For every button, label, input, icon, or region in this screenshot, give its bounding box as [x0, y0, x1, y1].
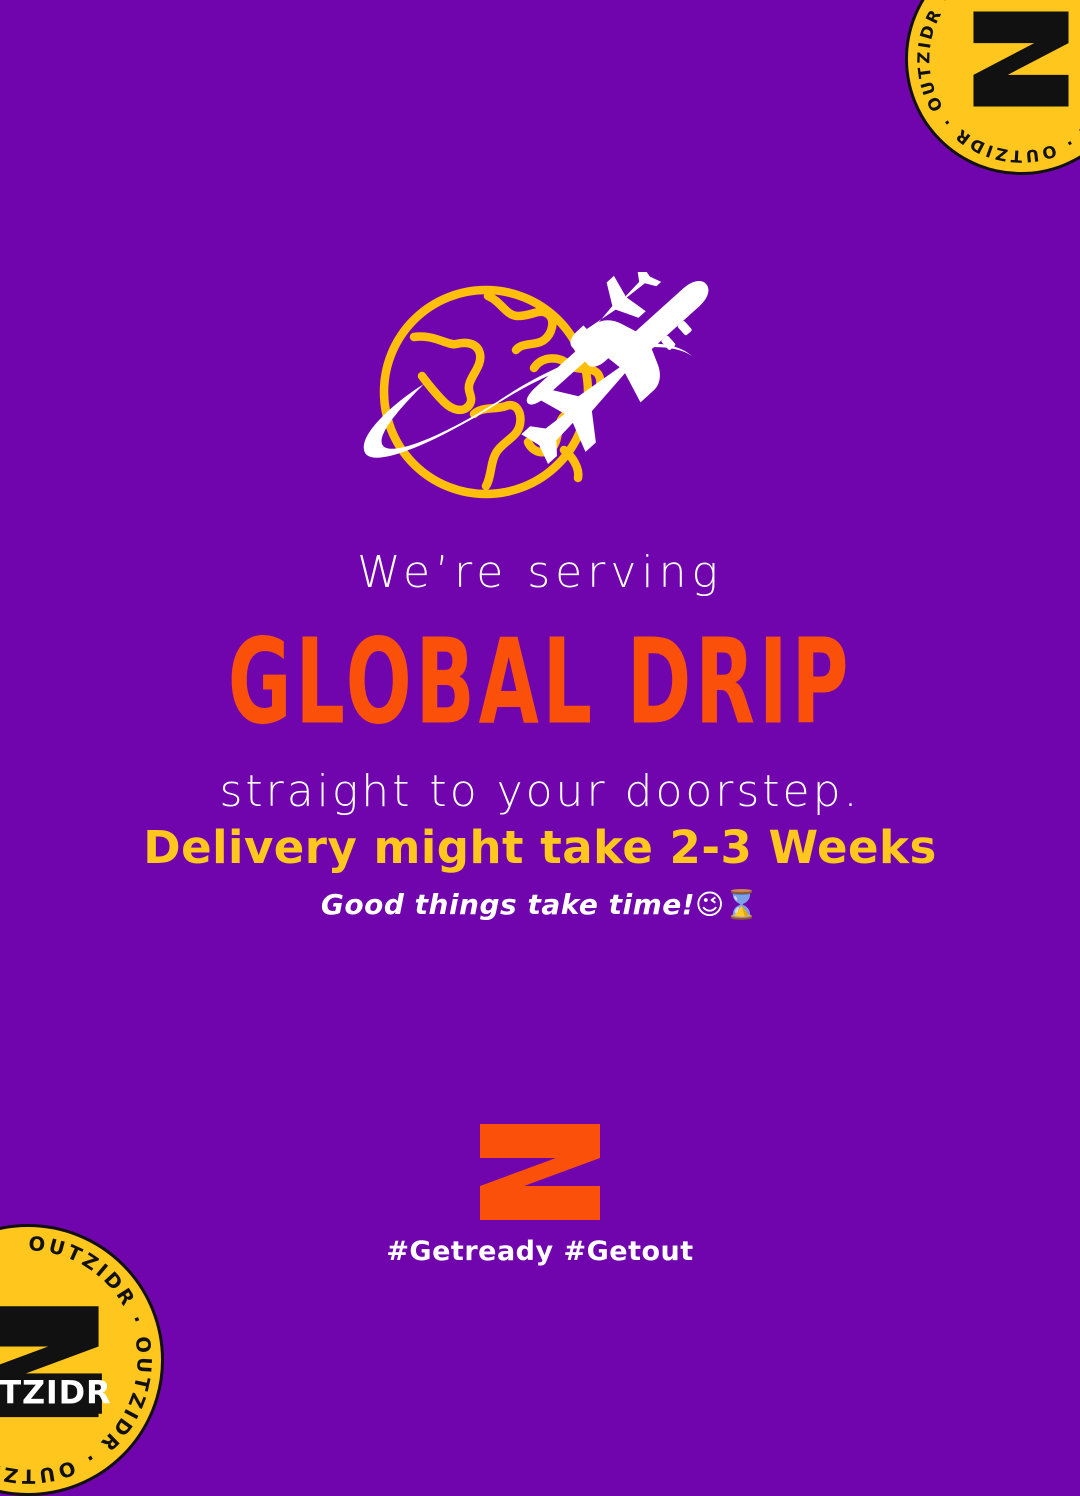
- headline-block: We’re serving GLOBAL DRIP straight to yo…: [0, 548, 1080, 816]
- z-logo-wordmark-icon: OUTZIDR: [0, 1276, 112, 1444]
- z-logo-orange-icon: [478, 1122, 602, 1222]
- badge-core-top-right: [908, 0, 1080, 172]
- headline-line-2-global-drip: GLOBAL DRIP: [32, 615, 1047, 752]
- z-logo-icon: [955, 0, 1080, 125]
- headline-line-3: straight to your doorstep.: [0, 768, 1080, 816]
- brand-badge-top-right: OUTZIDR · OUTZIDR · OUTZIDR · OUTZIDR ·: [905, 0, 1080, 175]
- delivery-subline: Good things take time!😉⌛: [0, 888, 1080, 921]
- delivery-headline: Delivery might take 2-3 Weeks: [0, 822, 1080, 874]
- globe-with-airplane-graphic: [356, 272, 724, 512]
- badge-wordmark-label: OUTZIDR: [0, 1374, 111, 1412]
- delivery-note-block: Delivery might take 2-3 Weeks Good thing…: [0, 822, 1080, 921]
- hourglass-emoji-icon: ⌛: [724, 888, 759, 921]
- headline-line-1: We’re serving: [0, 548, 1080, 597]
- airplane-icon: [469, 272, 724, 489]
- delivery-subline-text: Good things take time!: [321, 888, 695, 921]
- footer-block: #Getready #Getout: [0, 1122, 1080, 1267]
- hashtags-label: #Getready #Getout: [0, 1236, 1080, 1267]
- globe-icon: [384, 290, 600, 494]
- wink-emoji-icon: 😉: [695, 888, 724, 921]
